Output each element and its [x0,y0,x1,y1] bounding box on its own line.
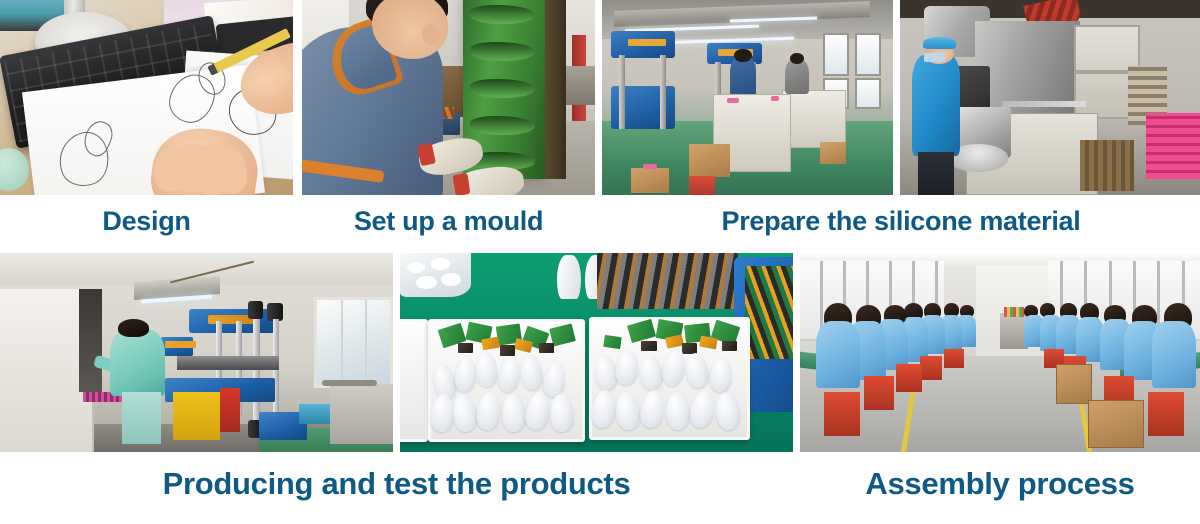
machine-label [628,39,666,46]
mould-cavity [470,42,536,61]
operator-legs [918,152,954,195]
red-stool [864,376,894,410]
window [855,33,881,76]
mould-cavity [470,116,536,135]
foam-tray [428,319,585,442]
step-prepare-the-silicone-material: Prepare the silicone material [602,0,1200,250]
step-set-up-a-mould: Set up a mould [302,0,595,250]
foam-tray [400,319,428,442]
silicone-part [643,164,658,169]
blue-bin [299,404,330,424]
machine-label [165,341,196,348]
hydraulic-cylinder [248,301,264,319]
photo-product-trays [400,253,793,452]
red-guard [220,388,240,432]
trolley [330,384,393,444]
press-rod [253,319,259,422]
worker-hair [118,319,149,337]
window [855,78,881,109]
window [823,33,849,76]
press-rod [273,319,279,422]
cardboard-box [1056,364,1092,404]
press-platen [177,356,279,370]
operator-cap [923,37,956,49]
red-stool [920,356,942,380]
cardboard-sheets [1080,140,1134,191]
photo-prepare-the-silicone-material [602,0,893,195]
cardboard-box [631,168,669,193]
red-stool [689,176,715,196]
operator-coverall [912,55,960,156]
window [314,297,393,389]
photo-silicone-mixing [900,0,1200,195]
caption-design: Design [0,206,293,237]
press-column [619,55,625,129]
foam-tray [589,317,750,440]
parts-bag [400,253,471,297]
photo-design [0,0,293,195]
worker-legs [122,392,161,444]
step-producing-and-test-the-products: Producing and test the products [0,253,793,524]
cardboard-box [1088,400,1144,448]
panel-shadow [79,289,103,392]
cardboard-box [689,144,730,177]
workbench [782,90,846,149]
worker-ear [422,23,440,44]
yellow-guard [173,392,220,440]
mould-cavity [470,5,536,24]
caption-prepare-the-silicone-material: Prepare the silicone material [602,206,1200,237]
worker-coat [1152,321,1196,389]
caption-producing-and-test-the-products: Producing and test the products [0,466,793,502]
worker-coat [816,321,860,389]
face-mask [924,53,945,63]
finished-product [557,255,581,299]
silicone-part [727,98,739,104]
worker-head [734,49,751,63]
red-stool [824,392,860,436]
mould-cavity [470,79,536,98]
caption-set-up-a-mould: Set up a mould [302,206,595,237]
red-stool [1148,392,1184,436]
red-stool [896,364,922,392]
machine-rail [1002,101,1086,107]
process-board: Design [0,0,1200,524]
silicone-part [771,96,780,102]
step-design: Design [0,0,293,250]
mouse [0,148,29,191]
cardboard-box [820,142,846,163]
photo-assembly-process [800,253,1200,452]
mould-edge [545,0,566,179]
pcb-stack [597,253,738,309]
photo-set-up-a-mould [302,0,595,195]
bottles [1004,307,1024,317]
red-stool [944,349,964,369]
worker-shirt [110,329,165,397]
caption-assembly-process: Assembly process [800,466,1200,502]
photo-producing-and-test-the-products [0,253,393,452]
trolley-handle [322,380,377,386]
bin-contents [745,266,793,359]
step-assembly-process: Assembly process [800,253,1200,524]
pink-tray-stack [1146,113,1200,179]
press-column [660,55,666,129]
